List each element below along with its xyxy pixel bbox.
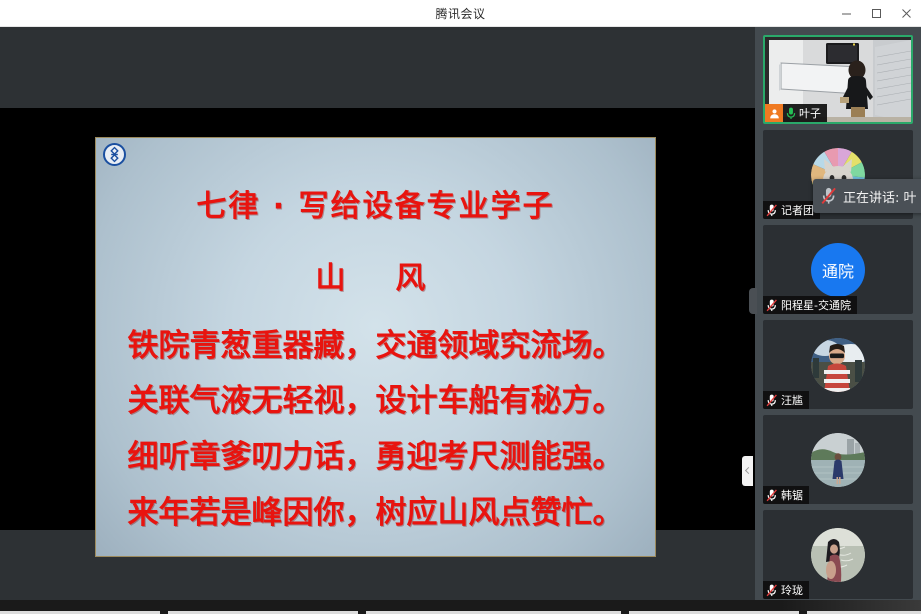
poem-line: 来年若是峰因你，树应山风点赞忙。 xyxy=(96,486,655,542)
mic-on-icon xyxy=(786,107,796,120)
poem-lines: 铁院青葱重器藏，交通领域究流场。 关联气液无轻视，设计车船有秘方。 细听章爹叨力… xyxy=(96,319,655,542)
participant-name: 阳程星-交通院 xyxy=(781,297,851,313)
tencent-meeting-window: 腾讯会议 xyxy=(0,0,921,614)
person-icon xyxy=(769,108,780,119)
participant-tile[interactable]: 玲珑 xyxy=(763,510,913,599)
participant-nameplate: 阳程星-交通院 xyxy=(763,296,857,314)
shared-screen-stage: 七律 · 写给设备专业学子 山 风 铁院青葱重器藏，交通领域究流场。 关联气液无… xyxy=(0,27,755,587)
minimize-button[interactable] xyxy=(831,0,861,27)
speaking-tooltip-text: 正在讲话: 叶 xyxy=(843,187,917,206)
mic-muted-icon xyxy=(821,187,837,205)
poem-line: 细听章爹叨力话，勇迎考尺测能强。 xyxy=(96,430,655,486)
maximize-button[interactable] xyxy=(861,0,891,27)
close-button[interactable] xyxy=(891,0,921,27)
participant-avatar xyxy=(811,338,865,392)
poem-author: 山 风 xyxy=(96,253,655,297)
maximize-icon xyxy=(871,8,882,19)
participant-name: 记者团 xyxy=(781,202,814,218)
participant-name: 韩锯 xyxy=(781,487,803,503)
window-title: 腾讯会议 xyxy=(435,5,485,22)
window-titlebar: 腾讯会议 xyxy=(0,0,921,27)
participant-rail[interactable]: 叶子 xyxy=(755,27,921,600)
mic-muted-icon xyxy=(766,204,778,217)
mic-muted-icon xyxy=(766,489,778,502)
window-controls xyxy=(831,0,921,27)
participant-nameplate: 汪尴 xyxy=(763,391,809,409)
canvas-collapse-handle[interactable] xyxy=(742,456,753,486)
participant-nameplate: 玲珑 xyxy=(763,581,809,599)
participant-name: 玲珑 xyxy=(781,582,803,598)
participant-nameplate: 韩锯 xyxy=(763,486,809,504)
slide-text-body: 七律 · 写给设备专业学子 山 风 铁院青葱重器藏，交通领域究流场。 关联气液无… xyxy=(96,190,655,542)
presentation-logo-icon xyxy=(103,143,126,166)
avatar-photo-person-lake-icon xyxy=(811,433,865,487)
participant-nameplate: 记者团 xyxy=(763,201,820,219)
presentation-slide: 七律 · 写给设备专业学子 山 风 铁院青葱重器藏，交通领域究流场。 关联气液无… xyxy=(95,137,656,557)
logo-knot-glyph xyxy=(108,148,121,161)
minimize-icon xyxy=(841,8,852,19)
panel-collapse-handle[interactable] xyxy=(749,288,757,314)
mic-muted-icon xyxy=(766,584,778,597)
poem-title: 七律 · 写给设备专业学子 xyxy=(96,190,655,225)
close-icon xyxy=(901,8,912,19)
participant-avatar xyxy=(811,528,865,582)
mic-muted-icon xyxy=(766,394,778,407)
participant-name: 汪尴 xyxy=(781,392,803,408)
mic-muted-icon xyxy=(766,299,778,312)
participant-avatar xyxy=(811,433,865,487)
speaking-tooltip: 正在讲话: 叶 xyxy=(813,179,921,213)
poem-line: 关联气液无轻视，设计车船有秘方。 xyxy=(96,374,655,430)
desktop-taskbar-strip xyxy=(0,600,921,614)
participant-tile[interactable]: 叶子 xyxy=(763,35,913,124)
avatar-photo-person-sunglasses-icon xyxy=(811,338,865,392)
participant-tile[interactable]: 通院 阳程星-交通院 xyxy=(763,225,913,314)
avatar-photo-person-water-icon xyxy=(811,528,865,582)
participant-avatar: 通院 xyxy=(811,243,865,297)
avatar-initials: 通院 xyxy=(822,258,854,282)
participant-nameplate: 叶子 xyxy=(765,104,827,122)
host-badge xyxy=(765,104,783,122)
participant-tile[interactable]: 韩锯 xyxy=(763,415,913,504)
participant-name: 叶子 xyxy=(799,105,821,121)
participant-tile[interactable]: 汪尴 xyxy=(763,320,913,409)
poem-line: 铁院青葱重器藏，交通领域究流场。 xyxy=(96,319,655,375)
